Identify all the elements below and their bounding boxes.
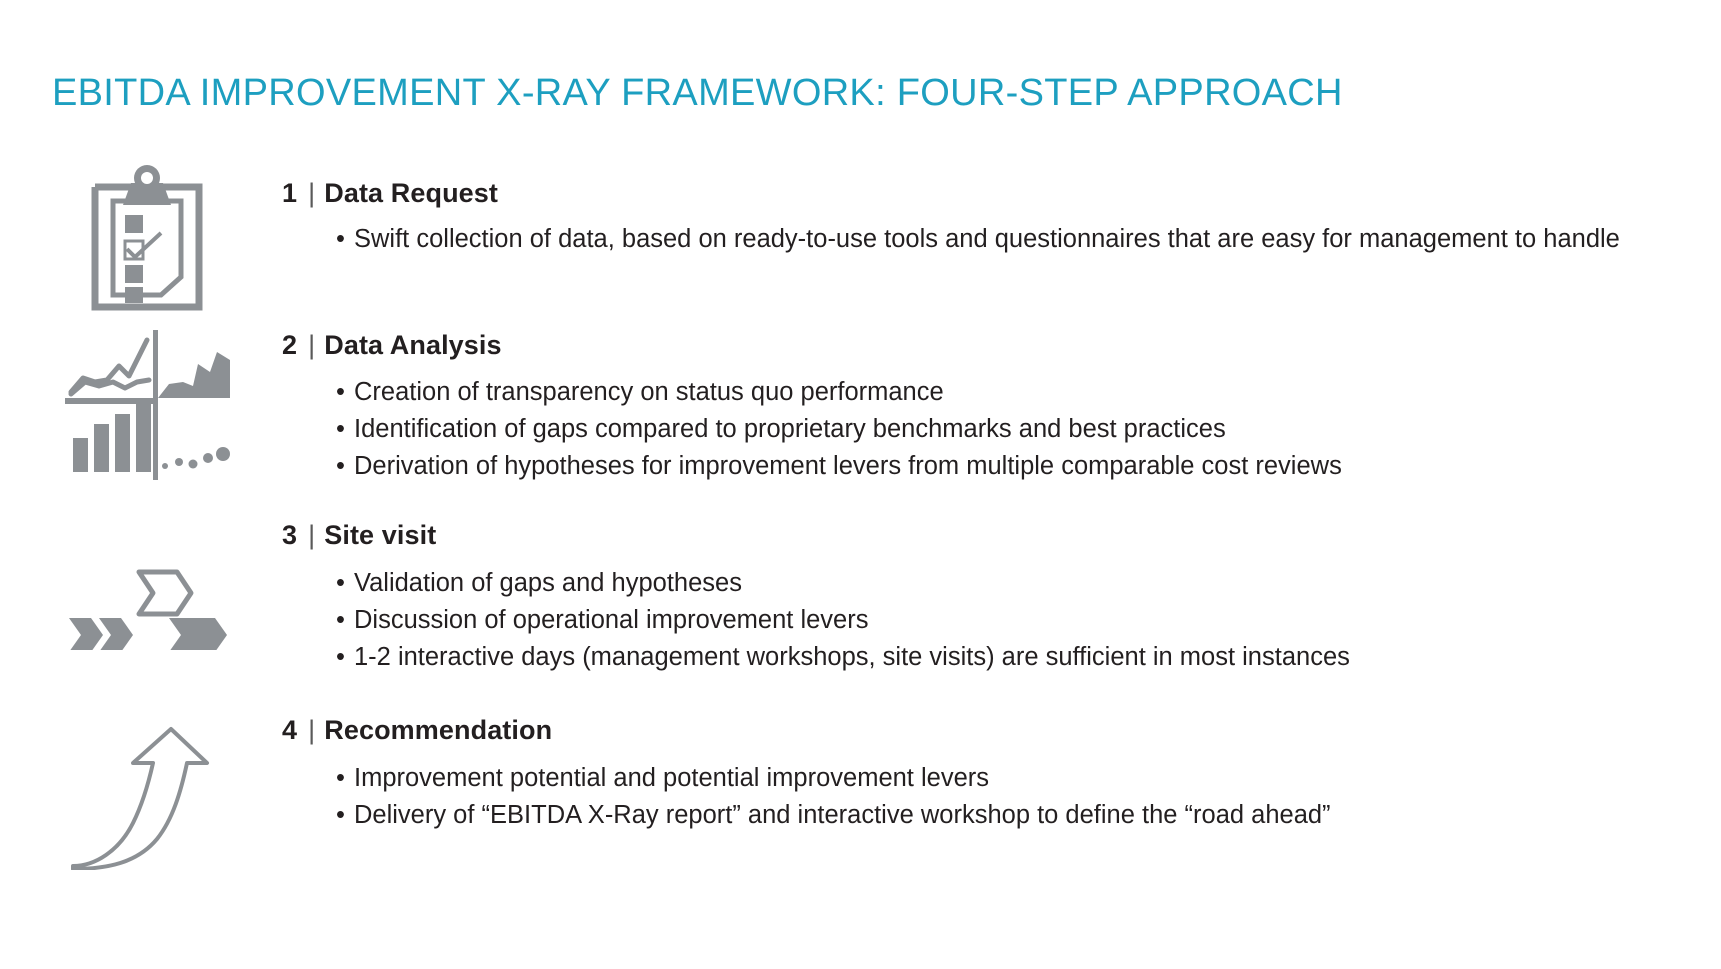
list-item: • Swift collection of data, based on rea… — [336, 221, 1711, 258]
step-heading: 3|Site visit — [282, 520, 1711, 551]
list-item: • Discussion of operational improvement … — [336, 602, 1711, 639]
bullet-icon: • — [336, 565, 345, 602]
step-bullets: • Creation of transparency on status quo… — [282, 374, 1711, 485]
slide-canvas: EBITDA IMPROVEMENT X-RAY FRAMEWORK: FOUR… — [0, 0, 1721, 969]
list-item: • Derivation of hypotheses for improveme… — [336, 448, 1711, 485]
step-heading: 1|Data Request — [282, 178, 1711, 209]
bullet-text: 1-2 interactive days (management worksho… — [354, 643, 1350, 671]
list-item: • Improvement potential and potential im… — [336, 760, 1711, 797]
step-heading: 2|Data Analysis — [282, 330, 1711, 361]
step-number: 4 — [282, 715, 297, 746]
bullet-text: Identification of gaps compared to propr… — [354, 415, 1226, 443]
step-separator: | — [297, 715, 324, 746]
step-separator: | — [297, 178, 324, 209]
step-body: 1|Data Request • Swift collection of dat… — [282, 178, 1711, 258]
bullet-text: Derivation of hypotheses for improvement… — [354, 452, 1342, 480]
bullet-icon: • — [336, 639, 345, 676]
step-bullets: • Validation of gaps and hypotheses • Di… — [282, 565, 1711, 676]
step-body: 2|Data Analysis • Creation of transparen… — [282, 330, 1711, 485]
bullet-text: Validation of gaps and hypotheses — [354, 569, 742, 597]
bullet-text: Improvement potential and potential impr… — [354, 764, 989, 792]
bullet-icon: • — [336, 797, 345, 834]
bullet-text: Creation of transparency on status quo p… — [354, 378, 944, 406]
bullet-icon: • — [336, 411, 345, 448]
bullet-icon: • — [336, 602, 345, 639]
chevron-arrows-icon — [52, 560, 242, 650]
step-separator: | — [297, 330, 324, 361]
list-item: • Delivery of “EBITDA X-Ray report” and … — [336, 797, 1711, 834]
charts-quadrant-icon — [52, 330, 242, 480]
list-item: • Identification of gaps compared to pro… — [336, 411, 1711, 448]
bullet-icon: • — [336, 374, 345, 411]
bullet-icon: • — [336, 221, 345, 258]
list-item: • 1-2 interactive days (management works… — [336, 639, 1711, 676]
step-label: Data Request — [324, 178, 498, 209]
step-number: 2 — [282, 330, 297, 361]
step-heading: 4|Recommendation — [282, 715, 1711, 746]
step-body: 3|Site visit • Validation of gaps and hy… — [282, 520, 1711, 676]
step-label: Site visit — [324, 520, 436, 551]
step-number: 3 — [282, 520, 297, 551]
step-label: Data Analysis — [324, 330, 501, 361]
step-bullets: • Swift collection of data, based on rea… — [282, 221, 1711, 258]
clipboard-checklist-icon — [52, 165, 242, 315]
step-body: 4|Recommendation • Improvement potential… — [282, 715, 1711, 834]
step-number: 1 — [282, 178, 297, 209]
bullet-text: Delivery of “EBITDA X-Ray report” and in… — [354, 801, 1331, 829]
bullet-icon: • — [336, 448, 345, 485]
step-bullets: • Improvement potential and potential im… — [282, 760, 1711, 834]
list-item: • Validation of gaps and hypotheses — [336, 565, 1711, 602]
bullet-text: Discussion of operational improvement le… — [354, 606, 868, 634]
step-label: Recommendation — [324, 715, 552, 746]
bullet-icon: • — [336, 760, 345, 797]
page-title: EBITDA IMPROVEMENT X-RAY FRAMEWORK: FOUR… — [52, 72, 1343, 115]
curved-up-arrow-icon — [52, 725, 242, 870]
bullet-text: Swift collection of data, based on ready… — [354, 225, 1620, 253]
list-item: • Creation of transparency on status quo… — [336, 374, 1711, 411]
step-separator: | — [297, 520, 324, 551]
